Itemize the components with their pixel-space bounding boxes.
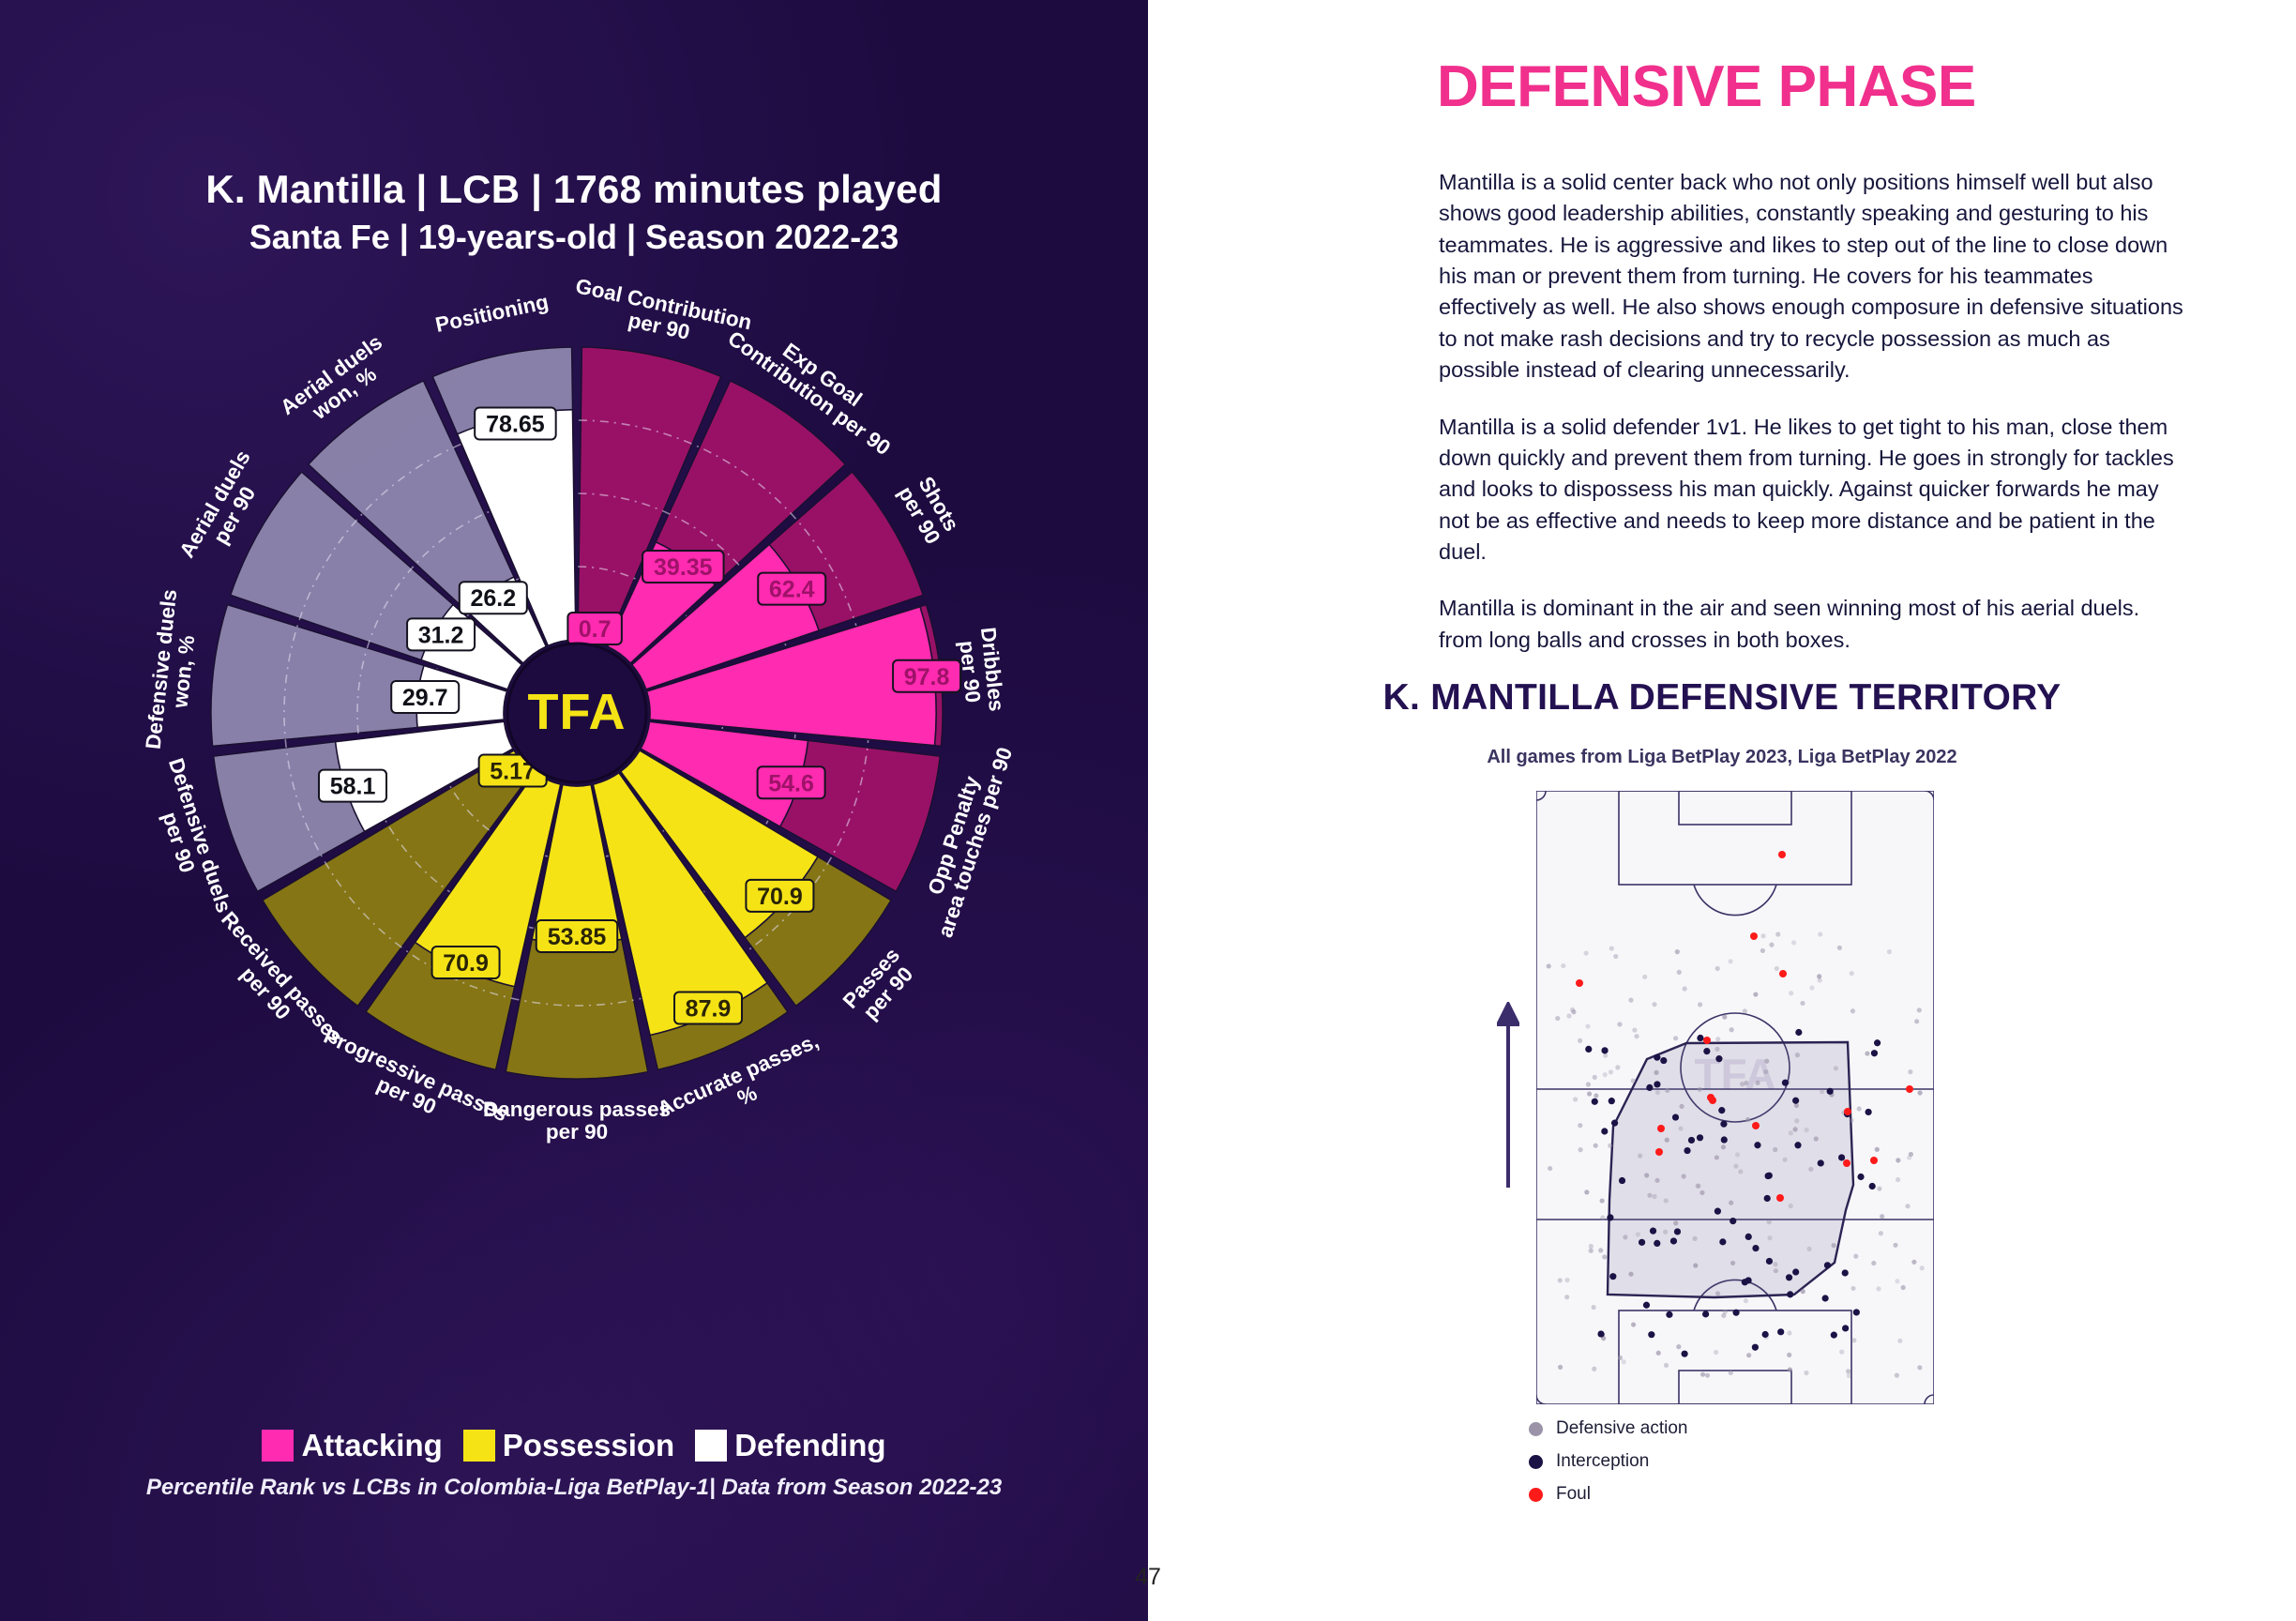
player-subtitle-line: Santa Fe | 19-years-old | Season 2022-23 (0, 218, 1148, 257)
legend-label-possession: Possession (503, 1428, 674, 1463)
article-paragraph-2: Mantilla is a solid defender 1v1. He lik… (1439, 412, 2189, 568)
radar-value-label: 78.65 (475, 408, 555, 440)
svg-text:29.7: 29.7 (402, 685, 448, 711)
radar-legend: Attacking Possession Defending (0, 1428, 1148, 1463)
legend-label-attacking: Attacking (301, 1428, 442, 1463)
svg-text:per 90: per 90 (546, 1120, 608, 1144)
pitch-legend-item-defensive-action: Defensive action (1529, 1418, 1687, 1439)
territory-heading: K. MANTILLA DEFENSIVE TERRITORY (1148, 677, 2296, 719)
radar-value-label: 87.9 (674, 992, 742, 1023)
pitch-svg: TFA (1536, 791, 1934, 1404)
svg-text:26.2: 26.2 (470, 585, 516, 612)
pitch-legend: Defensive action Interception Foul (1529, 1418, 1687, 1517)
legend-label-defending: Defending (734, 1428, 885, 1463)
pitch-legend-label-defensive-action: Defensive action (1556, 1418, 1687, 1439)
pitch-legend-item-foul: Foul (1529, 1484, 1687, 1505)
svg-text:TFA: TFA (528, 684, 627, 740)
player-title-line: K. Mantilla | LCB | 1768 minutes played (0, 167, 1148, 212)
radar-value-label: 58.1 (319, 770, 386, 802)
legend-swatch-attacking (262, 1430, 294, 1462)
legend-item-possession: Possession (463, 1428, 674, 1463)
section-heading: DEFENSIVE PHASE (1437, 58, 1976, 116)
svg-text:54.6: 54.6 (768, 770, 814, 796)
attack-direction-arrow (1497, 1002, 1519, 1189)
svg-text:70.9: 70.9 (757, 884, 803, 910)
svg-text:87.9: 87.9 (686, 995, 732, 1022)
legend-swatch-defending (695, 1430, 727, 1462)
defensive-action-dot-icon (1529, 1422, 1543, 1436)
radar-value-label: 70.9 (432, 947, 500, 978)
pitch-legend-label-interception: Interception (1556, 1451, 1649, 1472)
radar-category-label: Shotsper 90 (894, 471, 965, 548)
radar-category-label: Positioning (433, 290, 551, 337)
radar-panel: K. Mantilla | LCB | 1768 minutes played … (0, 0, 1148, 1621)
legend-item-attacking: Attacking (262, 1428, 442, 1463)
radar-category-label: Dribblesper 90 (954, 626, 1008, 715)
svg-text:Positioning: Positioning (433, 290, 551, 337)
svg-text:78.65: 78.65 (486, 412, 545, 438)
foul-dot-icon (1529, 1488, 1543, 1502)
svg-text:31.2: 31.2 (418, 622, 464, 648)
pitch-legend-label-foul: Foul (1556, 1484, 1591, 1505)
radar-value-label: 31.2 (407, 618, 475, 650)
svg-text:97.8: 97.8 (904, 664, 950, 690)
article-paragraph-3: Mantilla is dominant in the air and seen… (1439, 593, 2189, 656)
radar-value-label: 39.35 (642, 551, 724, 583)
radar-category-label: Defensive duelswon, % (142, 588, 204, 753)
radar-value-label: 62.4 (758, 573, 825, 605)
radar-value-label: 0.7 (567, 613, 622, 644)
svg-text:39.35: 39.35 (654, 554, 713, 581)
legend-swatch-possession (463, 1430, 495, 1462)
radar-value-label: 26.2 (460, 582, 527, 614)
radar-svg: 0.739.3562.497.854.670.987.953.8570.95.1… (56, 272, 1097, 1332)
radar-footnote: Percentile Rank vs LCBs in Colombia-Liga… (0, 1475, 1148, 1501)
svg-text:0.7: 0.7 (579, 616, 612, 643)
territory-subtitle: All games from Liga BetPlay 2023, Liga B… (1148, 747, 2296, 768)
radar-title-block: K. Mantilla | LCB | 1768 minutes played … (0, 167, 1148, 257)
svg-text:Dangerous passes: Dangerous passes (483, 1098, 671, 1121)
svg-text:70.9: 70.9 (443, 950, 489, 977)
article-body: Mantilla is a solid center back who not … (1439, 167, 2189, 681)
pizza-radar-chart: 0.739.3562.497.854.670.987.953.8570.95.1… (56, 272, 1097, 1332)
radar-value-label: 97.8 (893, 660, 960, 692)
svg-text:62.4: 62.4 (769, 577, 815, 603)
article-paragraph-1: Mantilla is a solid center back who not … (1439, 167, 2189, 386)
interception-dot-icon (1529, 1455, 1543, 1469)
page-number: 47 (0, 1564, 2296, 1591)
legend-item-defending: Defending (695, 1428, 885, 1463)
svg-text:58.1: 58.1 (330, 774, 376, 800)
radar-value-label: 54.6 (758, 766, 825, 798)
radar-value-label: 29.7 (391, 681, 459, 713)
defensive-territory-pitch: TFA (1536, 791, 1934, 1404)
pitch-legend-item-interception: Interception (1529, 1451, 1687, 1472)
svg-text:53.85: 53.85 (548, 924, 607, 950)
radar-value-label: 70.9 (746, 880, 813, 912)
radar-category-label: Dangerous passesper 90 (483, 1098, 671, 1144)
radar-value-label: 53.85 (536, 920, 618, 952)
